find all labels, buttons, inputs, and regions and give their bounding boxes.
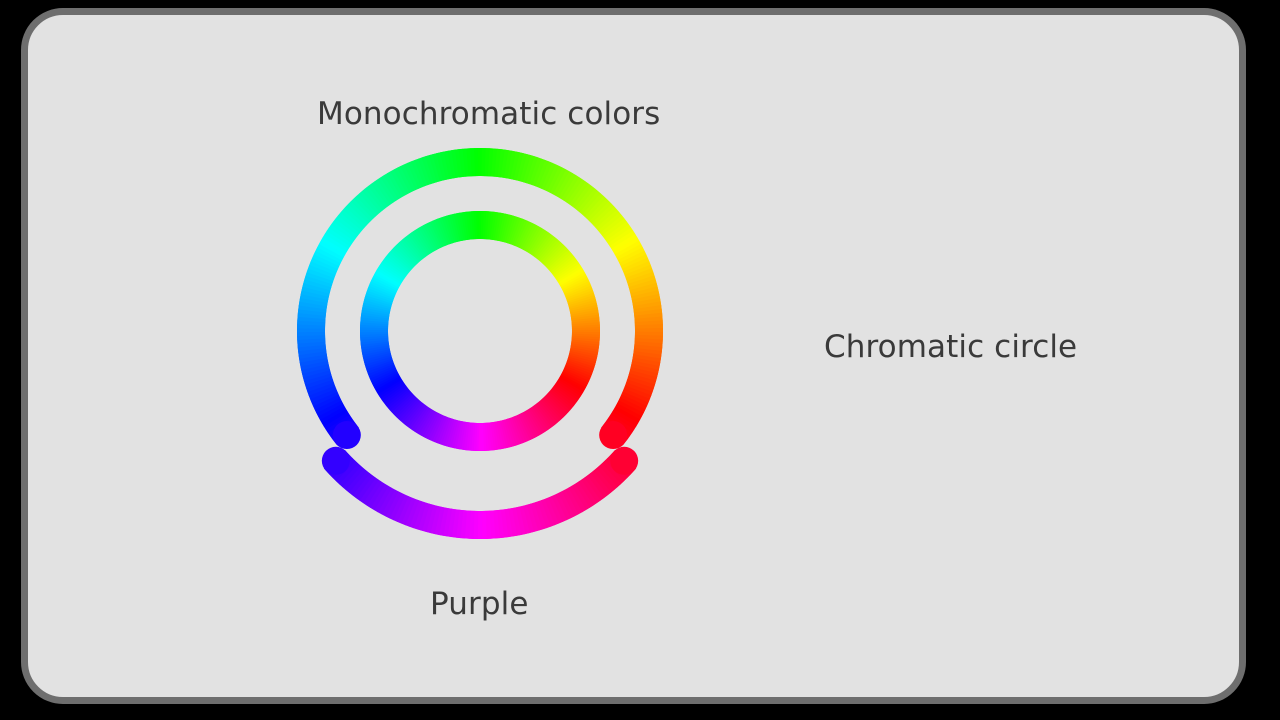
purple-bottom-arc-cap — [322, 447, 350, 475]
inner-chromatic-ring — [374, 225, 586, 437]
outer-chromatic-arc-cap — [599, 421, 627, 449]
outer-chromatic-arc — [311, 162, 649, 449]
screenshot-root: Monochromatic colors Chromatic circle Pu… — [0, 0, 1280, 720]
outer-chromatic-arc-cap — [333, 421, 361, 449]
purple-bottom-arc-cap — [610, 447, 638, 475]
label-monochromatic-colors: Monochromatic colors — [317, 96, 660, 132]
label-purple: Purple — [430, 586, 529, 622]
purple-bottom-arc — [322, 447, 638, 525]
label-chromatic-circle: Chromatic circle — [824, 329, 1077, 365]
arc-group — [311, 162, 649, 525]
